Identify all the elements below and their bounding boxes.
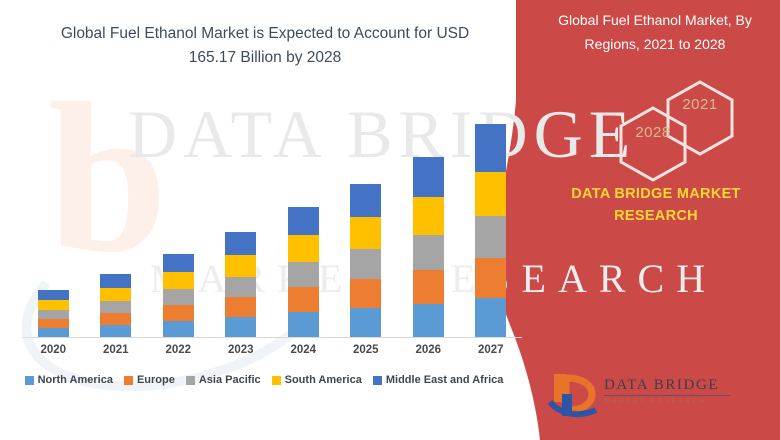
bar-segment-asia-pacific[interactable] [413,235,444,270]
bar-segment-asia-pacific[interactable] [100,301,131,313]
stacked-bar[interactable] [350,184,381,338]
bar-segment-south-america[interactable] [225,255,256,277]
bar-segment-south-america[interactable] [288,235,319,262]
bar-column-2023[interactable] [210,96,272,338]
legend-item-middle-east-and-africa[interactable]: Middle East and Africa [373,374,504,386]
bar-segment-asia-pacific[interactable] [163,289,194,305]
legend-swatch-icon [186,376,195,385]
hexagon-2021-shape [668,82,732,154]
panel-title: Global Fuel Ethanol Market, By Regions, … [540,8,770,56]
brand-name: DATA BRIDGE MARKET RESEARCH [540,183,772,227]
x-tick-2024: 2024 [272,344,334,356]
legend-label: North America [38,374,113,386]
bar-segment-middle-east-and-africa[interactable] [413,157,444,197]
legend-item-asia-pacific[interactable]: Asia Pacific [186,374,261,386]
bar-segment-europe[interactable] [413,270,444,304]
bar-segment-middle-east-and-africa[interactable] [350,184,381,217]
bar-column-2021[interactable] [85,96,147,338]
bar-segment-north-america[interactable] [350,308,381,338]
hexagon-2021-label: 2021 [659,96,741,113]
legend-swatch-icon [25,376,34,385]
x-tick-2021: 2021 [85,344,147,356]
hexagon-2028-label: 2028 [612,124,694,141]
bar-segment-north-america[interactable] [225,317,256,338]
x-tick-2026: 2026 [397,344,459,356]
x-tick-2022: 2022 [147,344,209,356]
bar-segment-north-america[interactable] [413,304,444,338]
stacked-bar[interactable] [38,290,69,338]
bar-segment-europe[interactable] [225,297,256,317]
stacked-bar-chart [22,96,522,338]
bar-segment-middle-east-and-africa[interactable] [475,124,506,172]
stacked-bar[interactable] [100,274,131,338]
chart-x-axis: 20202021202220232024202520262027 [22,344,522,364]
logo-title: DATA BRIDGE [604,376,736,394]
logo-b-icon [548,372,600,418]
bar-column-2026[interactable] [397,96,459,338]
bar-segment-south-america[interactable] [163,272,194,289]
chart-legend: North AmericaEuropeAsia PacificSouth Ame… [0,374,528,386]
bar-segment-europe[interactable] [288,287,319,312]
bar-segment-north-america[interactable] [475,298,506,338]
stacked-bar[interactable] [413,157,444,338]
bar-segment-south-america[interactable] [413,197,444,235]
bar-segment-south-america[interactable] [475,172,506,216]
x-tick-2025: 2025 [335,344,397,356]
bar-column-2024[interactable] [272,96,334,338]
bar-segment-middle-east-and-africa[interactable] [288,207,319,235]
bar-segment-europe[interactable] [100,313,131,325]
legend-label: Middle East and Africa [386,374,504,386]
data-bridge-logo: DATA BRIDGE MARKET RESEARCH [548,372,738,420]
bar-segment-europe[interactable] [163,305,194,321]
legend-item-north-america[interactable]: North America [25,374,113,386]
bar-segment-europe[interactable] [350,279,381,308]
logo-divider [604,395,730,396]
bar-segment-middle-east-and-africa[interactable] [225,232,256,255]
bar-column-2027[interactable] [460,96,522,338]
bar-segment-asia-pacific[interactable] [225,277,256,297]
bar-segment-middle-east-and-africa[interactable] [163,254,194,272]
logo-subtitle: MARKET RESEARCH [604,397,736,407]
legend-swatch-icon [272,376,281,385]
legend-item-europe[interactable]: Europe [124,374,175,386]
bar-segment-europe[interactable] [38,319,69,328]
stacked-bar[interactable] [225,232,256,338]
chart-title: Global Fuel Ethanol Market is Expected t… [40,22,490,70]
legend-label: Asia Pacific [199,374,261,386]
infographic-canvas: b DATA BRIDGE MARKET RESEARCH Global Fue… [0,0,780,440]
legend-label: South America [285,374,362,386]
bar-segment-north-america[interactable] [288,312,319,338]
bar-segment-north-america[interactable] [163,321,194,338]
bar-column-2020[interactable] [22,96,84,338]
legend-item-south-america[interactable]: South America [272,374,362,386]
legend-label: Europe [137,374,175,386]
bar-segment-middle-east-and-africa[interactable] [38,290,69,300]
bar-segment-asia-pacific[interactable] [38,310,69,319]
bar-column-2022[interactable] [147,96,209,338]
bar-segment-middle-east-and-africa[interactable] [100,274,131,288]
x-tick-2027: 2027 [460,344,522,356]
hexagon-group: 2021 2028 [596,78,756,184]
bar-segment-europe[interactable] [475,258,506,298]
hexagon-2028-shape [621,108,685,180]
logo-text-block: DATA BRIDGE MARKET RESEARCH [604,376,736,407]
stacked-bar[interactable] [163,254,194,338]
bar-column-2025[interactable] [335,96,397,338]
bar-segment-asia-pacific[interactable] [475,216,506,258]
x-tick-2023: 2023 [210,344,272,356]
stacked-bar[interactable] [288,207,319,338]
bar-segment-asia-pacific[interactable] [288,262,319,287]
legend-swatch-icon [373,376,382,385]
stacked-bar[interactable] [475,124,506,338]
bar-segment-south-america[interactable] [350,217,381,249]
legend-swatch-icon [124,376,133,385]
bar-segment-south-america[interactable] [38,300,69,310]
bar-segment-south-america[interactable] [100,288,131,301]
x-tick-2020: 2020 [22,344,84,356]
bar-segment-asia-pacific[interactable] [350,249,381,279]
chart-baseline [22,337,522,338]
